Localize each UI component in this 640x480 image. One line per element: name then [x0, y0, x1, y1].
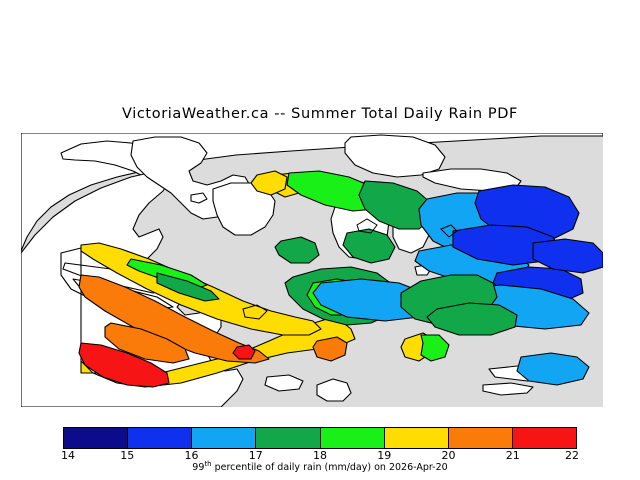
colorbar-segment-15-16: [128, 428, 192, 448]
colorbar-caption: 99th percentile of daily rain (mm/day) o…: [0, 460, 640, 473]
region-far-east-lightblue: [517, 353, 589, 385]
region-island-orange-small: [313, 337, 347, 361]
caption-superscript: th: [204, 460, 211, 468]
colorbar-segment-20-21: [449, 428, 513, 448]
land-bottom-shape-2: [265, 375, 303, 391]
caption-rest: percentile of daily rain (mm/day) on 202…: [212, 462, 448, 473]
page-title: VictoriaWeather.ca -- Summer Total Daily…: [0, 106, 640, 122]
caption-prefix: 99: [192, 462, 204, 473]
region-east-green-2: [427, 303, 517, 335]
colorbar-segment-16-17: [192, 428, 256, 448]
colorbar-wrap: [63, 427, 577, 449]
colorbar-segment-21-22: [513, 428, 576, 448]
map-panel: [21, 133, 603, 407]
colorbar-segment-17-18: [256, 428, 320, 448]
colorbar: [63, 427, 577, 449]
land-bottom-shape-1: [317, 379, 351, 401]
land-east-tongue-2: [483, 383, 533, 395]
colorbar-segment-19-20: [385, 428, 449, 448]
region-island-red-small: [233, 345, 255, 359]
choropleth-regions: [79, 171, 603, 387]
region-island-green-small: [421, 335, 449, 361]
colorbar-segment-18-19: [321, 428, 385, 448]
colorbar-segment-14-15: [64, 428, 128, 448]
rainfall-choropleth-map: [21, 133, 603, 407]
region-green-islet-2: [275, 237, 319, 263]
